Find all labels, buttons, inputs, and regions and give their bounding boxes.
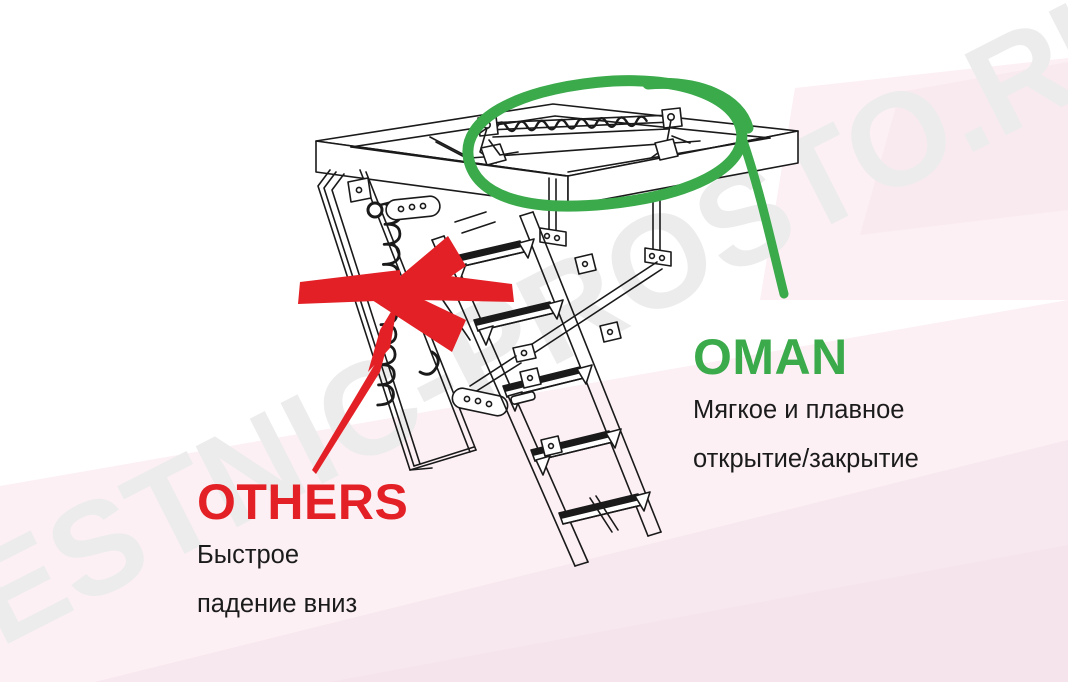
green-leader-line bbox=[742, 138, 784, 294]
oman-brand-label: OMAN bbox=[693, 332, 919, 382]
others-description-line2: падение вниз bbox=[197, 584, 408, 625]
oman-description-line2: открытие/закрытие bbox=[693, 439, 919, 480]
others-description-line1: Быстрое bbox=[197, 535, 408, 576]
promo-illustration-canvas: LESTNIC-PROSTO.RU bbox=[0, 0, 1068, 682]
callout-others: OTHERS Быстрое падение вниз bbox=[197, 477, 408, 626]
others-brand-label: OTHERS bbox=[197, 477, 408, 527]
red-arrow bbox=[298, 236, 514, 474]
oman-description-line1: Мягкое и плавное bbox=[693, 390, 919, 431]
green-ellipse-highlight bbox=[465, 75, 748, 212]
callout-oman: OMAN Мягкое и плавное открытие/закрытие bbox=[693, 332, 919, 481]
